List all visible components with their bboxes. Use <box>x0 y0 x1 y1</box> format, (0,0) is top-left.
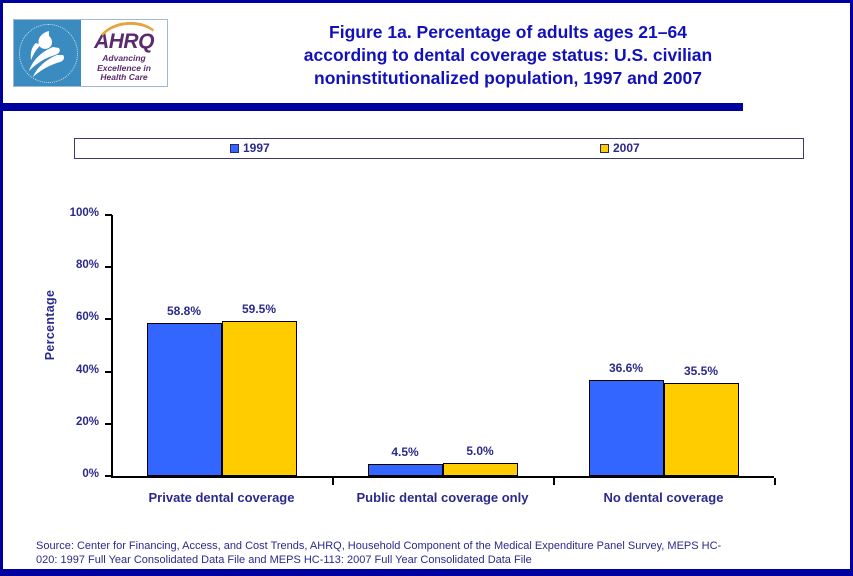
figure-page: AHRQ Advancing Excellence in Health Care… <box>0 0 853 576</box>
legend-label-2007: 2007 <box>613 141 640 155</box>
bar-value-label-1997-1: 58.8% <box>147 304 222 318</box>
legend-swatch-1997 <box>230 144 239 153</box>
bar-value-label-1997-2: 4.5% <box>368 445 443 459</box>
legend-swatch-2007 <box>600 144 609 153</box>
source-note: Source: Center for Financing, Access, an… <box>36 539 826 567</box>
bar-value-label-1997-3: 36.6% <box>589 361 664 375</box>
y-tick-label-20: 20% <box>39 416 99 428</box>
y-tick-label-40: 40% <box>39 364 99 376</box>
bar-1997-2 <box>368 464 443 476</box>
category-label-3: No dental coverage <box>514 490 814 505</box>
bar-2007-3 <box>664 383 739 476</box>
footer-divider <box>3 569 850 573</box>
y-tick-label-0: 0% <box>39 468 99 480</box>
y-tick-label-80: 80% <box>39 259 99 271</box>
figure-title: Figure 1a. Percentage of adults ages 21–… <box>178 21 838 90</box>
plot-area: 58.8%59.5%4.5%5.0%36.6%35.5% <box>111 215 774 476</box>
x-tick-3 <box>774 478 776 485</box>
source-line-1: Source: Center for Financing, Access, an… <box>36 539 826 553</box>
bar-value-label-2007-3: 35.5% <box>664 364 739 378</box>
bar-value-label-2007-1: 59.5% <box>222 302 297 316</box>
ahrq-tagline: Advancing Excellence in Health Care <box>81 54 167 83</box>
y-tick-label-60: 60% <box>39 311 99 323</box>
figure-title-line-3: noninstitutionalized population, 1997 an… <box>178 67 838 90</box>
legend-item-1997: 1997 <box>230 141 270 155</box>
x-tick-1 <box>332 478 334 485</box>
legend-item-2007: 2007 <box>600 141 640 155</box>
bar-1997-1 <box>147 323 222 476</box>
y-tick-label-100: 100% <box>39 207 99 219</box>
figure-title-line-1: Figure 1a. Percentage of adults ages 21–… <box>178 21 838 44</box>
hhs-bird-glyph <box>23 27 71 79</box>
legend-label-1997: 1997 <box>243 141 270 155</box>
header-divider <box>3 103 743 111</box>
figure-title-line-2: according to dental coverage status: U.S… <box>178 44 838 67</box>
chart-plot: Percentage 0%20%40%60%80%100% 58.8%59.5%… <box>3 163 850 513</box>
bar-2007-1 <box>222 321 297 476</box>
ahrq-swoosh-icon <box>94 19 162 54</box>
bar-value-label-2007-2: 5.0% <box>443 444 518 458</box>
ahrq-logo: AHRQ Advancing Excellence in Health Care <box>13 19 168 87</box>
header: AHRQ Advancing Excellence in Health Care… <box>3 3 850 101</box>
chart-legend: 1997 2007 <box>74 138 804 159</box>
bar-1997-3 <box>589 380 664 476</box>
hhs-seal-icon <box>14 20 81 86</box>
x-axis-line <box>111 476 774 478</box>
bar-2007-2 <box>443 463 518 476</box>
ahrq-wordmark-block: AHRQ Advancing Excellence in Health Care <box>81 20 167 86</box>
source-line-2: 020: 1997 Full Year Consolidated Data Fi… <box>36 553 826 567</box>
ahrq-tagline-line3: Health Care <box>81 73 167 83</box>
x-tick-2 <box>553 478 555 485</box>
